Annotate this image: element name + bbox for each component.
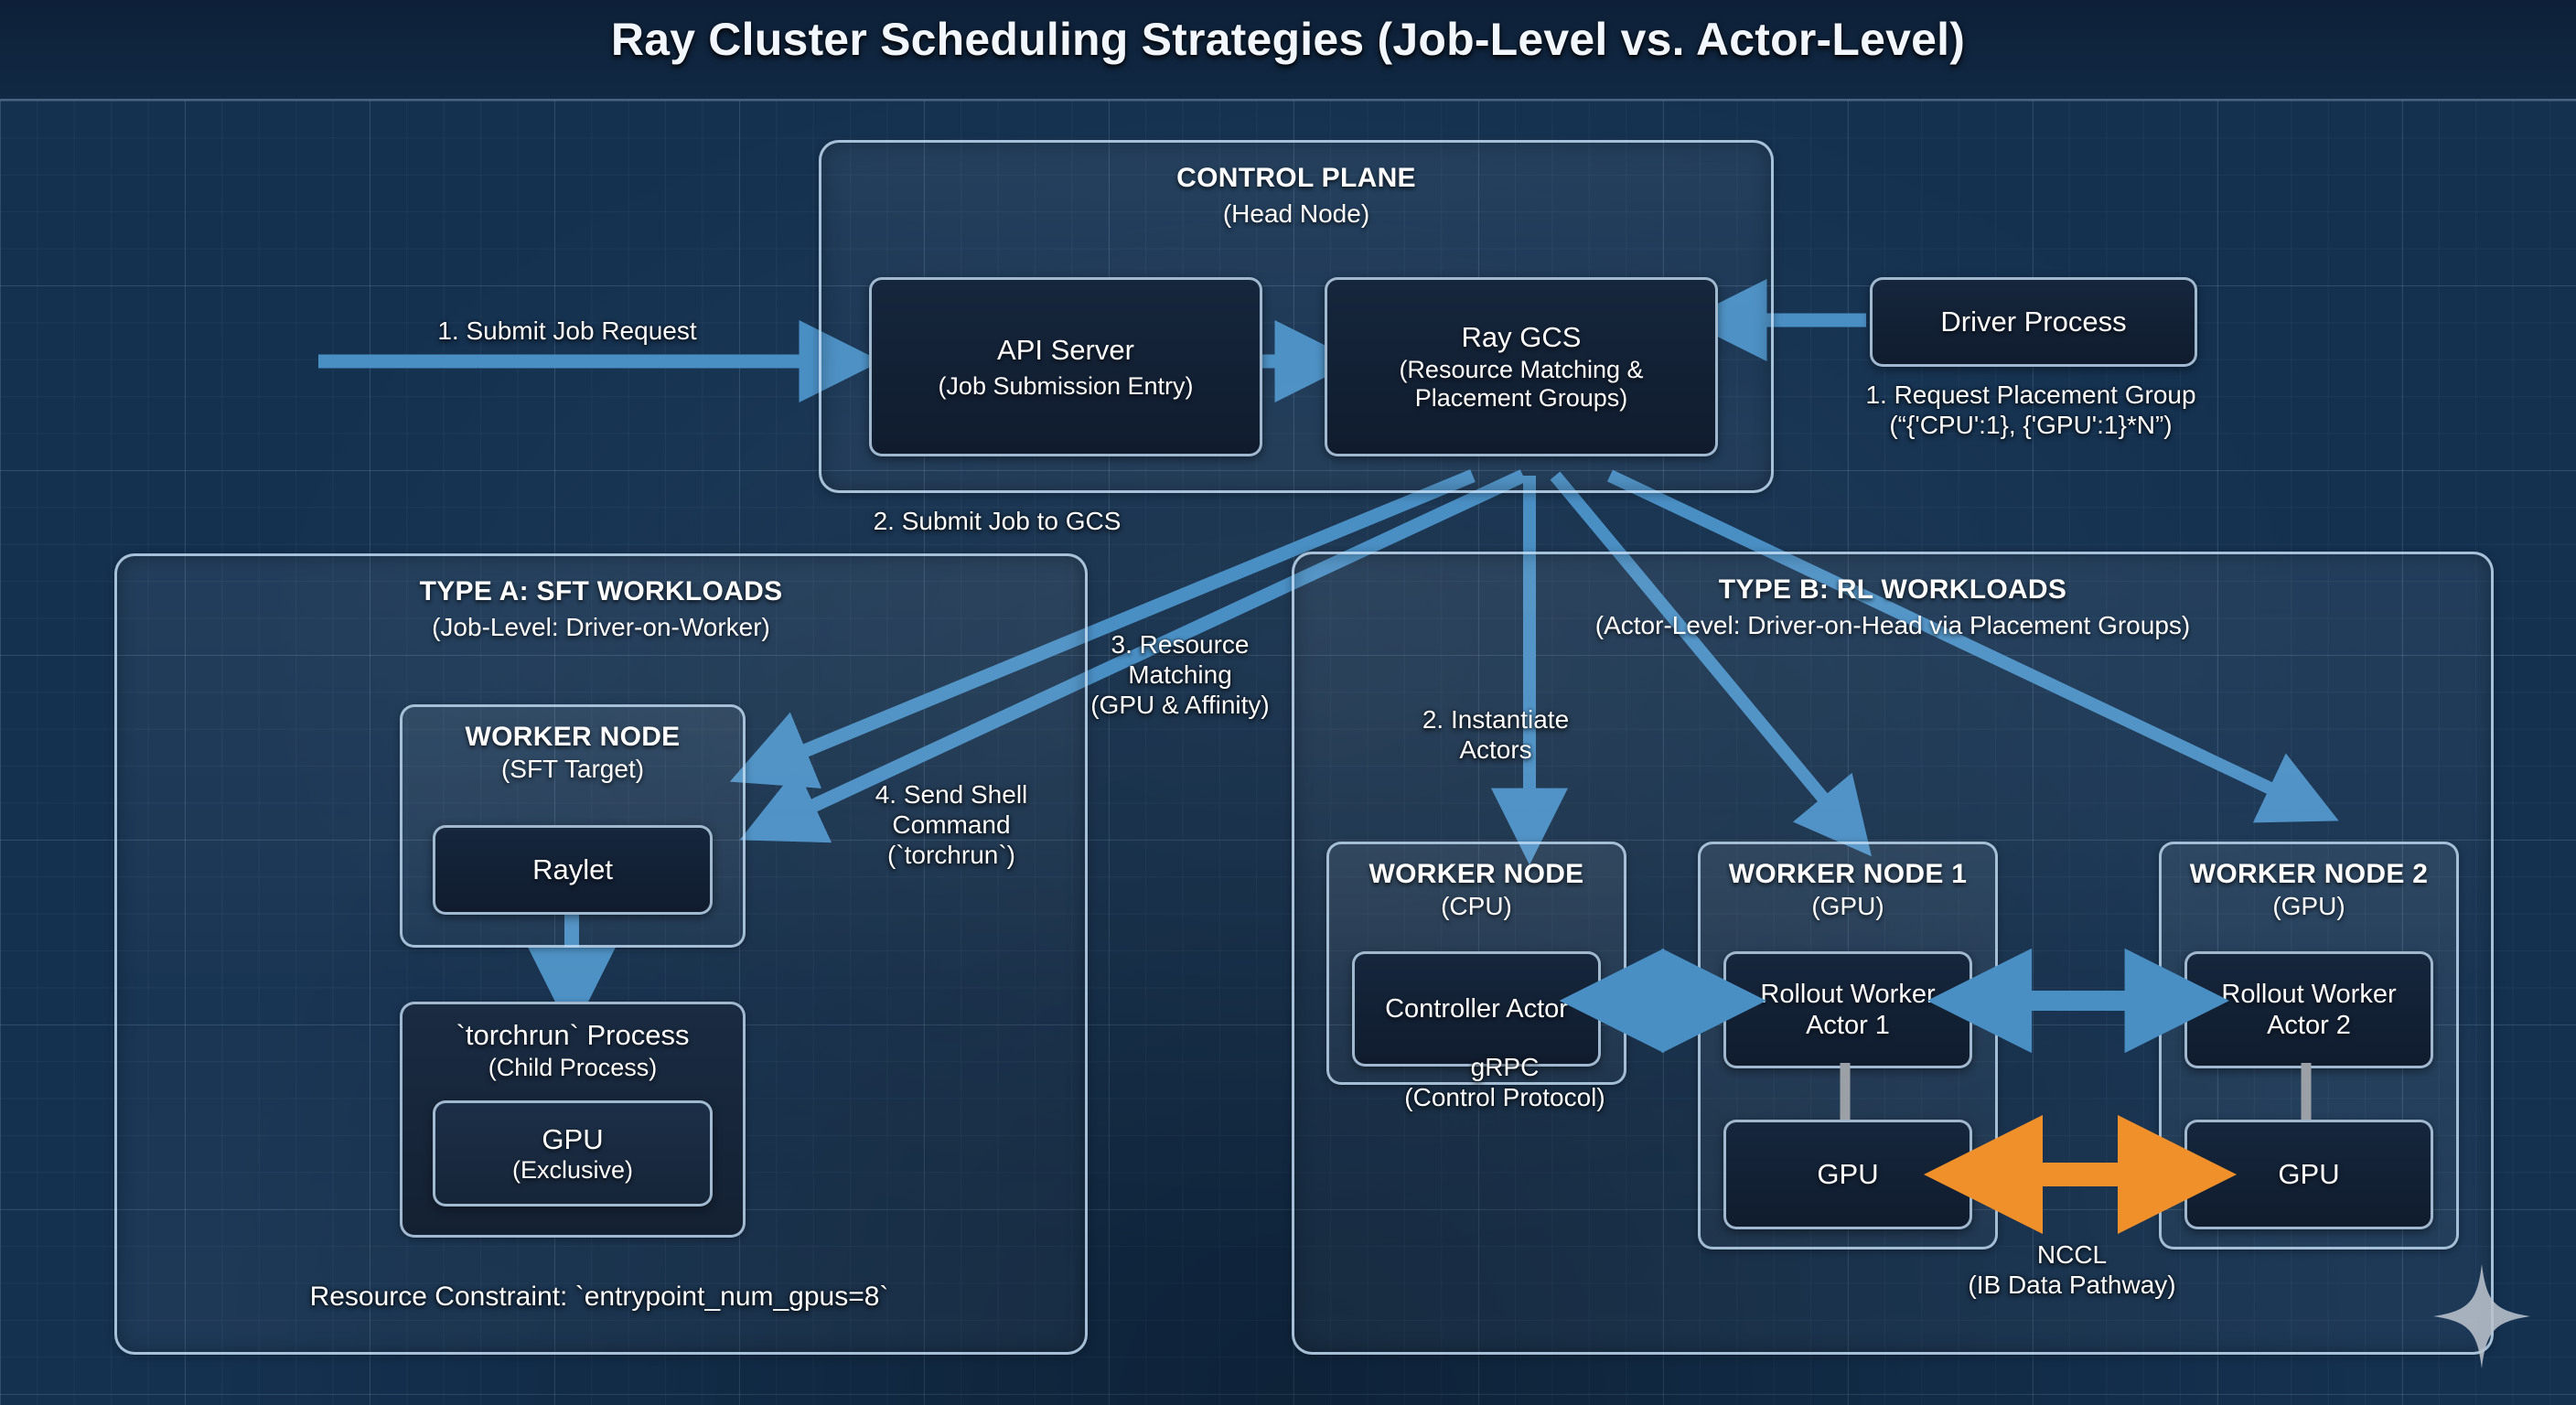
instantiate-actors-label: 2. Instantiate Actors — [1345, 704, 1647, 765]
submit-job-to-gcs-label: 2. Submit Job to GCS — [805, 506, 1189, 536]
sparkle-icon — [2431, 1262, 2532, 1370]
submit-job-request-label: 1. Submit Job Request — [311, 316, 823, 346]
type-a-footer-constraint: Resource Constraint: `entrypoint_num_gpu… — [137, 1281, 1061, 1313]
resource-matching-label: 3. Resource Matching (GPU & Affinity) — [1034, 629, 1326, 720]
request-placement-group-label: 1. Request Placement Group (“{'CPU':1}, … — [1793, 380, 2269, 440]
nccl-label: NCCL (IB Data Pathway) — [1871, 1239, 2273, 1300]
page-title: Ray Cluster Scheduling Strategies (Job-L… — [0, 13, 2576, 66]
send-shell-command-label: 4. Send Shell Command (`torchrun`) — [805, 779, 1098, 870]
grpc-label: gRPC (Control Protocol) — [1308, 1052, 1701, 1112]
diagram-canvas: Ray Cluster Scheduling Strategies (Job-L… — [0, 0, 2576, 1405]
